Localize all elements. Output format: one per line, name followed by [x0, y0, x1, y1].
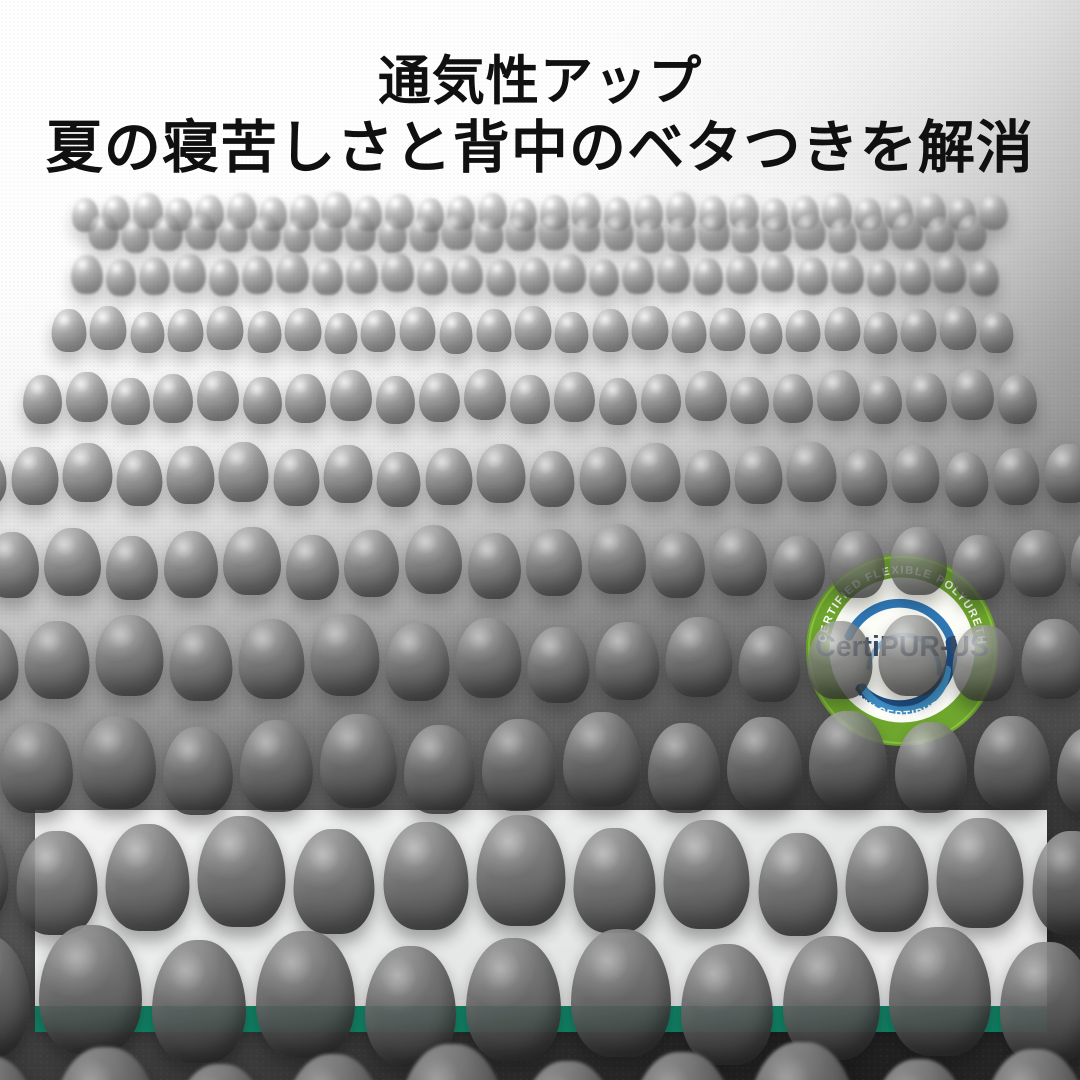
- foam-bump: [651, 532, 705, 598]
- foam-bump: [96, 615, 164, 696]
- foam-bump: [476, 815, 565, 927]
- foam-bump: [809, 711, 887, 807]
- foam-bump: [256, 931, 355, 1057]
- foam-bump: [324, 313, 357, 354]
- foam-bump: [153, 374, 193, 423]
- foam-bump: [1057, 727, 1080, 816]
- foam-bump: [711, 528, 768, 596]
- foam-bump: [795, 214, 826, 251]
- foam-bump: [417, 257, 448, 295]
- foam-bump: [425, 448, 472, 505]
- foam-bump: [482, 719, 556, 811]
- foam-bump: [121, 218, 149, 253]
- foam-bump: [106, 536, 158, 600]
- foam-bump: [486, 259, 516, 296]
- foam-bump: [830, 531, 885, 597]
- foam-bump: [604, 215, 634, 251]
- foam-bump: [25, 621, 90, 700]
- foam-bump: [807, 621, 872, 700]
- foam-bump: [239, 619, 305, 698]
- foam-bump: [510, 375, 550, 423]
- foam-bump: [1044, 444, 1080, 502]
- foam-bump: [51, 1047, 159, 1080]
- foam-bump: [641, 374, 681, 423]
- foam-bump: [476, 309, 511, 352]
- egg-crate-foam-texture: [0, 173, 1080, 1080]
- headline-line-1: 通気性アップ: [0, 52, 1080, 111]
- foam-bump: [185, 213, 216, 250]
- foam-bump: [167, 446, 215, 504]
- foam-bump: [636, 219, 664, 253]
- foam-bump: [763, 216, 792, 252]
- foam-bump: [240, 720, 313, 811]
- foam-bump: [0, 818, 9, 928]
- foam-bump: [11, 447, 58, 504]
- foam-bump: [685, 450, 731, 506]
- product-marketing-image: 通気性アップ 夏の寝苦しさと背中のベタつきを解消 CertiPUR-US ®: [0, 0, 1080, 1080]
- foam-bump: [758, 833, 837, 936]
- foam-bump: [555, 312, 589, 354]
- foam-bump: [276, 253, 309, 292]
- foam-bump: [206, 306, 243, 350]
- foam-bump: [468, 533, 521, 598]
- foam-bump: [173, 254, 206, 293]
- foam-bump: [579, 447, 626, 504]
- foam-bump: [592, 309, 628, 352]
- foam-bump: [117, 450, 163, 506]
- foam-bump: [170, 1064, 270, 1080]
- foam-bump: [376, 452, 421, 507]
- foam-bump: [957, 215, 987, 251]
- foam-bump: [219, 217, 248, 252]
- foam-bump: [746, 1042, 857, 1080]
- foam-bump: [439, 312, 473, 353]
- foam-bump: [111, 378, 149, 425]
- foam-bump: [346, 255, 378, 294]
- foam-bump: [906, 373, 947, 422]
- foam-bump: [198, 816, 286, 927]
- foam-bump: [515, 306, 552, 350]
- foam-bump: [859, 215, 889, 251]
- foam-bump: [376, 376, 415, 424]
- foam-bump: [981, 1049, 1080, 1080]
- foam-bump: [739, 626, 801, 702]
- foam-bump: [63, 443, 112, 502]
- foam-bump: [817, 370, 859, 421]
- foam-bump: [899, 257, 930, 295]
- foam-bump: [285, 308, 321, 351]
- foam-bump: [969, 259, 999, 296]
- foam-bump: [285, 374, 326, 423]
- foam-bump: [631, 443, 680, 502]
- foam-bump: [105, 824, 189, 931]
- foam-bump: [409, 216, 438, 252]
- foam-bump: [648, 723, 720, 813]
- foam-bump: [320, 714, 397, 808]
- foam-bump: [710, 308, 746, 351]
- foam-bump: [441, 214, 472, 251]
- foam-bump: [250, 215, 280, 251]
- foam-bump: [519, 257, 550, 295]
- foam-bump: [273, 449, 319, 505]
- foam-bump: [164, 531, 219, 597]
- foam-bump: [455, 618, 522, 698]
- foam-bump: [657, 253, 690, 292]
- foam-bump: [71, 255, 103, 294]
- foam-bump: [901, 309, 936, 352]
- foam-bump: [732, 218, 760, 252]
- foam-bump: [314, 217, 343, 252]
- foam-bump: [517, 1061, 618, 1080]
- headline: 通気性アップ 夏の寝苦しさと背中のベタつきを解消: [0, 52, 1080, 181]
- foam-bump: [831, 255, 863, 294]
- foam-bump: [163, 727, 233, 816]
- foam-bump: [106, 259, 136, 296]
- foam-bump: [345, 214, 375, 250]
- foam-bump: [44, 528, 101, 596]
- foam-bump: [1032, 831, 1080, 935]
- foam-bump: [726, 255, 758, 294]
- foam-bump: [993, 448, 1040, 505]
- foam-bump: [693, 258, 724, 295]
- foam-bump: [773, 374, 814, 423]
- foam-bump: [0, 934, 30, 1060]
- foam-bump: [90, 306, 127, 350]
- foam-bump: [622, 256, 654, 294]
- foam-bump: [933, 254, 966, 293]
- foam-bump: [170, 625, 233, 702]
- foam-bump: [846, 826, 929, 933]
- foam-bump: [824, 307, 861, 351]
- foam-bump: [23, 375, 63, 423]
- foam-bump: [772, 536, 824, 600]
- foam-bump: [17, 831, 97, 935]
- foam-bump: [1071, 525, 1080, 594]
- headline-line-2: 夏の寝苦しさと背中のベタつきを解消: [0, 117, 1080, 181]
- foam-bump: [666, 617, 733, 698]
- foam-bump: [312, 258, 343, 295]
- foam-bump: [0, 451, 7, 506]
- foam-bump: [925, 217, 954, 252]
- foam-bump: [0, 626, 19, 702]
- foam-bump: [404, 725, 475, 814]
- foam-bump: [242, 256, 274, 294]
- foam-bump: [664, 820, 750, 929]
- foam-bump: [153, 215, 183, 251]
- foam-bump: [344, 530, 399, 597]
- foam-bump: [951, 369, 994, 420]
- foam-bump: [588, 524, 647, 594]
- foam-bump: [286, 535, 339, 600]
- foam-bump: [952, 625, 1015, 702]
- foam-bump: [749, 313, 782, 354]
- foam-bump: [330, 370, 372, 421]
- foam-bump: [895, 722, 967, 813]
- foam-bump: [980, 312, 1014, 354]
- foam-bump: [940, 306, 977, 350]
- foam-bump: [892, 213, 923, 250]
- foam-bump: [868, 1059, 970, 1080]
- foam-bump: [554, 372, 595, 422]
- foam-bump: [699, 214, 729, 250]
- foam-bump: [937, 818, 1024, 928]
- foam-bump: [247, 311, 282, 353]
- foam-bump: [889, 927, 990, 1055]
- foam-bump: [80, 716, 156, 810]
- foam-bump: [451, 255, 483, 294]
- foam-bump: [526, 529, 582, 597]
- foam-bump: [386, 623, 450, 700]
- foam-bump: [464, 369, 507, 420]
- foam-bump: [867, 259, 897, 296]
- foam-bump: [281, 1054, 386, 1080]
- foam-bump: [311, 614, 380, 696]
- foam-bump: [667, 217, 696, 252]
- foam-bump: [685, 371, 727, 421]
- foam-bump: [572, 217, 601, 252]
- foam-bump: [506, 215, 536, 251]
- foam-bump: [399, 307, 436, 351]
- foam-bump: [599, 378, 637, 425]
- foam-bump: [219, 442, 269, 501]
- foam-bump: [139, 257, 170, 295]
- foam-bump: [383, 822, 468, 930]
- foam-bump: [761, 253, 794, 293]
- foam-bump: [66, 372, 107, 422]
- foam-bump: [998, 375, 1038, 423]
- foam-bump: [528, 627, 589, 703]
- foam-bump: [51, 309, 86, 352]
- foam-bump: [727, 717, 802, 810]
- foam-bump: [892, 445, 940, 503]
- foam-bump: [476, 444, 525, 502]
- foam-bump: [952, 535, 1005, 600]
- foam-bump: [864, 312, 898, 353]
- foam-bump: [0, 532, 39, 598]
- foam-bump: [283, 219, 311, 253]
- foam-bump: [944, 452, 989, 507]
- foam-bump: [589, 259, 619, 296]
- foam-bump: [209, 259, 239, 296]
- foam-bump: [863, 376, 902, 424]
- foam-bump: [797, 257, 828, 295]
- foam-bump: [0, 1056, 40, 1080]
- foam-bump: [405, 525, 463, 594]
- foam-bump: [167, 309, 203, 352]
- foam-bump: [563, 712, 641, 807]
- foam-bump: [39, 925, 141, 1054]
- foam-bump: [787, 442, 837, 501]
- foam-bump: [630, 1052, 736, 1080]
- foam-bump: [571, 929, 671, 1056]
- foam-bump: [841, 449, 887, 505]
- foam-bump: [974, 716, 1050, 810]
- foam-bump: [631, 306, 668, 350]
- foam-bump: [361, 310, 396, 352]
- foam-bump: [324, 445, 372, 503]
- foam-bump: [730, 377, 769, 424]
- foam-bump: [595, 622, 659, 700]
- foam-bump: [735, 446, 783, 504]
- foam-bump: [397, 1044, 506, 1080]
- foam-bump: [197, 371, 239, 421]
- foam-bump: [538, 213, 569, 250]
- foam-bump: [574, 828, 656, 934]
- foam-bump: [1010, 530, 1065, 597]
- foam-bump: [130, 312, 164, 354]
- foam-bump: [378, 218, 406, 252]
- foam-bump: [223, 527, 280, 596]
- foam-bump: [672, 311, 707, 353]
- foam-bump: [294, 829, 375, 934]
- foam-bump: [890, 527, 947, 596]
- foam-bump: [88, 214, 119, 251]
- foam-bump: [553, 254, 586, 293]
- foam-bump: [419, 373, 460, 422]
- foam-bump: [786, 310, 821, 352]
- foam-bump: [828, 218, 856, 253]
- foam-bump: [1021, 619, 1080, 698]
- foam-bump: [381, 253, 414, 293]
- foam-bump: [243, 377, 282, 424]
- foam-bump: [0, 722, 72, 813]
- foam-bump: [878, 615, 946, 696]
- foam-bump: [530, 451, 575, 506]
- foam-bump: [475, 218, 503, 253]
